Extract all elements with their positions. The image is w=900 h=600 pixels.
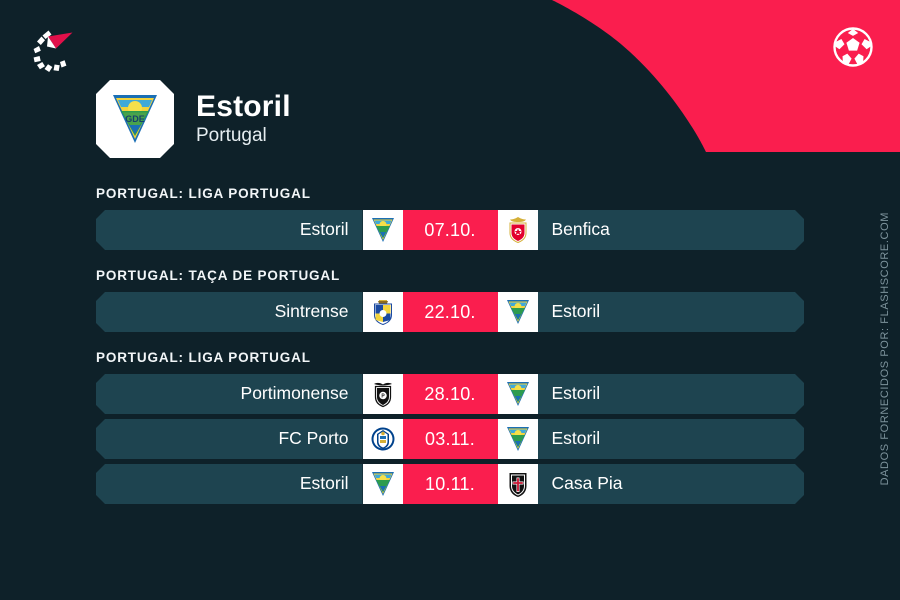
home-team-cell[interactable]: Estoril bbox=[96, 464, 363, 504]
away-team-cell[interactable]: Estoril bbox=[538, 292, 805, 332]
estoril-crest-icon: GDE bbox=[96, 80, 174, 158]
home-team-name: Sintrense bbox=[275, 303, 349, 321]
sintrense-crest-icon bbox=[363, 292, 403, 332]
away-team-name: Estoril bbox=[552, 385, 601, 403]
away-team-name: Estoril bbox=[552, 430, 601, 448]
porto-crest-icon bbox=[363, 419, 403, 459]
competition-header: PORTUGAL: LIGA PORTUGAL bbox=[96, 186, 804, 210]
away-team-cell[interactable]: Estoril bbox=[538, 419, 805, 459]
match-row[interactable]: Estoril 07.10. Benfica bbox=[96, 210, 804, 250]
estoril-crest-icon bbox=[498, 292, 538, 332]
home-team-cell[interactable]: Sintrense bbox=[96, 292, 363, 332]
away-team-name: Benfica bbox=[552, 221, 610, 239]
competition-header: PORTUGAL: TAÇA DE PORTUGAL bbox=[96, 255, 804, 292]
away-team-cell[interactable]: Casa Pia bbox=[538, 464, 805, 504]
home-team-cell[interactable]: Estoril bbox=[96, 210, 363, 250]
casapia-crest-icon bbox=[498, 464, 538, 504]
attribution-watermark: DADOS FORNECIDOS POR: FLASHSCORE.COM bbox=[874, 155, 896, 485]
match-date-badge[interactable]: 22.10. bbox=[403, 292, 498, 332]
match-date-badge[interactable]: 10.11. bbox=[403, 464, 498, 504]
match-date-badge[interactable]: 07.10. bbox=[403, 210, 498, 250]
portimonense-crest-icon: P bbox=[363, 374, 403, 414]
away-team-cell[interactable]: Estoril bbox=[538, 374, 805, 414]
competition-header: PORTUGAL: LIGA PORTUGAL bbox=[96, 337, 804, 374]
team-country-label: Portugal bbox=[196, 125, 291, 148]
home-team-name: Estoril bbox=[300, 221, 349, 239]
benfica-crest-icon bbox=[498, 210, 538, 250]
home-team-cell[interactable]: Portimonense bbox=[96, 374, 363, 414]
estoril-crest-icon bbox=[363, 210, 403, 250]
match-date-text: 28.10. bbox=[424, 385, 475, 403]
home-team-cell[interactable]: FC Porto bbox=[96, 419, 363, 459]
away-team-name: Estoril bbox=[552, 303, 601, 321]
svg-text:GDE: GDE bbox=[125, 114, 145, 124]
home-team-name: Estoril bbox=[300, 475, 349, 493]
match-row[interactable]: Portimonense P 28.10. Estoril bbox=[96, 374, 804, 414]
away-team-cell[interactable]: Benfica bbox=[538, 210, 805, 250]
match-date-text: 03.11. bbox=[425, 430, 475, 448]
team-header: GDE Estoril Portugal bbox=[96, 80, 291, 158]
match-date-text: 10.11. bbox=[425, 475, 475, 493]
match-date-text: 22.10. bbox=[424, 303, 475, 321]
match-date-text: 07.10. bbox=[424, 221, 475, 239]
estoril-crest-icon bbox=[498, 374, 538, 414]
match-date-badge[interactable]: 03.11. bbox=[403, 419, 498, 459]
estoril-crest-icon bbox=[498, 419, 538, 459]
away-team-name: Casa Pia bbox=[552, 475, 623, 493]
home-team-name: Portimonense bbox=[241, 385, 349, 403]
match-row[interactable]: FC Porto 03.11. bbox=[96, 419, 804, 459]
attribution-text: DADOS FORNECIDOS POR: FLASHSCORE.COM bbox=[879, 212, 891, 485]
estoril-crest-icon bbox=[363, 464, 403, 504]
screenshot-root: GDE Estoril Portugal DADOS FORNECIDOS PO… bbox=[0, 0, 900, 600]
soccer-ball-icon[interactable] bbox=[832, 26, 874, 68]
match-row[interactable]: Estoril 10.11. Casa Pia bbox=[96, 464, 804, 504]
page-title: Estoril bbox=[196, 90, 291, 123]
match-row[interactable]: Sintrense 22.10. bbox=[96, 292, 804, 332]
flashscore-logo-icon[interactable] bbox=[28, 26, 78, 74]
match-list: PORTUGAL: LIGA PORTUGAL Estoril 07.10. bbox=[96, 186, 804, 509]
home-team-name: FC Porto bbox=[278, 430, 348, 448]
red-swoosh-decoration bbox=[510, 0, 900, 152]
match-date-badge[interactable]: 28.10. bbox=[403, 374, 498, 414]
